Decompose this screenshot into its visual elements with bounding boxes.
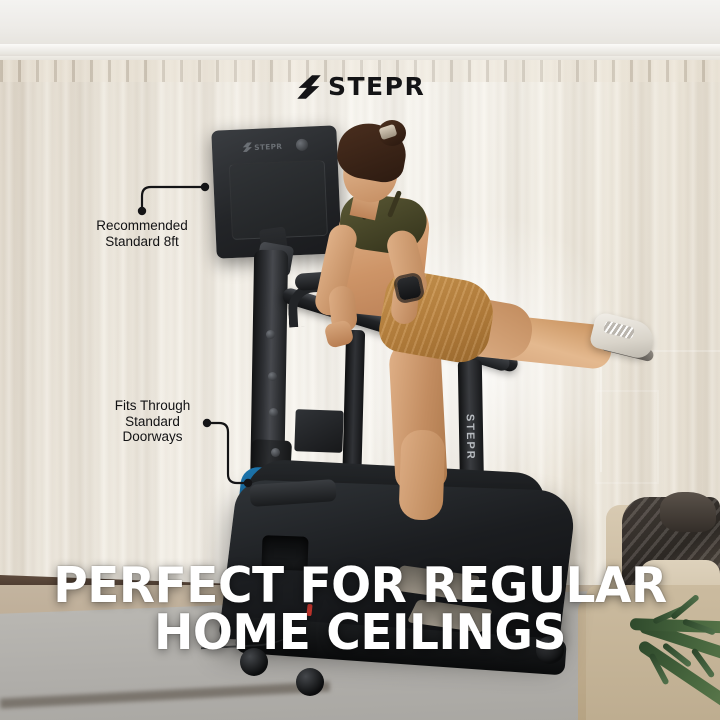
stepr-s-mark-icon xyxy=(296,74,322,100)
headline: PERFECT FOR REGULAR HOME CEILINGS xyxy=(14,562,705,656)
standing-calf xyxy=(398,429,445,520)
promo-image: STEPR STEPR xyxy=(0,0,720,720)
annotation-doorway: Fits Through Standard Doorways xyxy=(95,398,210,445)
headline-line-2: HOME CEILINGS xyxy=(14,609,705,656)
annotation-ceiling-height-text: Recommended Standard 8ft xyxy=(72,218,212,249)
annotation-doorway-text: Fits Through Standard Doorways xyxy=(95,398,210,445)
stepr-logo-text: STEPR xyxy=(328,72,425,101)
stepr-logo: STEPR xyxy=(296,72,425,101)
annotation-ceiling-height: Recommended Standard 8ft xyxy=(72,218,212,249)
